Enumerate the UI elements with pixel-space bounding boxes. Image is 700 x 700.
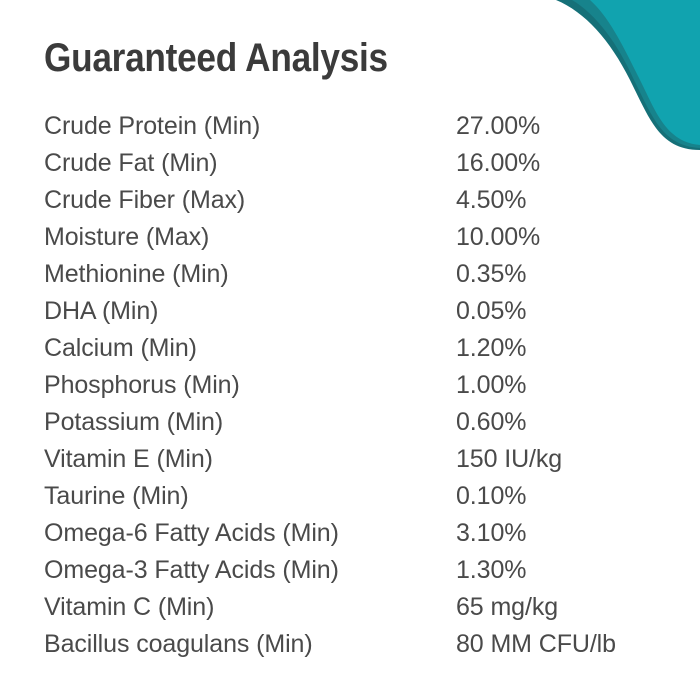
nutrient-name: Vitamin E (Min) xyxy=(44,445,456,474)
analysis-row: Bacillus coagulans (Min) 80 MM CFU/lb xyxy=(44,630,644,667)
analysis-row: Crude Fiber (Max) 4.50% xyxy=(44,186,644,223)
nutrient-value: 3.10% xyxy=(456,519,526,548)
nutrient-name: Omega-6 Fatty Acids (Min) xyxy=(44,519,456,548)
nutrient-value: 27.00% xyxy=(456,112,540,141)
nutrient-name: Omega-3 Fatty Acids (Min) xyxy=(44,556,456,585)
analysis-row: Crude Fat (Min) 16.00% xyxy=(44,149,644,186)
nutrient-name: Calcium (Min) xyxy=(44,334,456,363)
nutrient-value: 65 mg/kg xyxy=(456,593,558,622)
nutrient-value: 4.50% xyxy=(456,186,526,215)
nutrient-name: Bacillus coagulans (Min) xyxy=(44,630,456,659)
nutrient-value: 1.30% xyxy=(456,556,526,585)
nutrient-value: 0.60% xyxy=(456,408,526,437)
nutrient-name: Crude Fat (Min) xyxy=(44,149,456,178)
nutrient-value: 150 IU/kg xyxy=(456,445,562,474)
analysis-row: Phosphorus (Min) 1.00% xyxy=(44,371,644,408)
nutrient-value: 0.35% xyxy=(456,260,526,289)
analysis-row: Taurine (Min) 0.10% xyxy=(44,482,644,519)
nutrient-name: DHA (Min) xyxy=(44,297,456,326)
guaranteed-analysis-list: Crude Protein (Min) 27.00% Crude Fat (Mi… xyxy=(44,112,644,667)
nutrient-value: 16.00% xyxy=(456,149,540,178)
analysis-row: Vitamin E (Min) 150 IU/kg xyxy=(44,445,644,482)
analysis-row: Moisture (Max) 10.00% xyxy=(44,223,644,260)
nutrient-value: 80 MM CFU/lb xyxy=(456,630,616,659)
nutrient-value: 1.20% xyxy=(456,334,526,363)
nutrient-name: Taurine (Min) xyxy=(44,482,456,511)
nutrient-name: Phosphorus (Min) xyxy=(44,371,456,400)
nutrient-name: Moisture (Max) xyxy=(44,223,456,252)
analysis-row: Vitamin C (Min) 65 mg/kg xyxy=(44,593,644,630)
analysis-row: Omega-6 Fatty Acids (Min) 3.10% xyxy=(44,519,644,556)
analysis-row: Crude Protein (Min) 27.00% xyxy=(44,112,644,149)
analysis-row: Methionine (Min) 0.35% xyxy=(44,260,644,297)
nutrient-value: 0.05% xyxy=(456,297,526,326)
nutrient-name: Potassium (Min) xyxy=(44,408,456,437)
nutrient-name: Crude Protein (Min) xyxy=(44,112,456,141)
guaranteed-analysis-panel: Guaranteed Analysis Crude Protein (Min) … xyxy=(0,0,700,700)
nutrient-name: Vitamin C (Min) xyxy=(44,593,456,622)
nutrient-value: 0.10% xyxy=(456,482,526,511)
analysis-row: Calcium (Min) 1.20% xyxy=(44,334,644,371)
nutrient-value: 10.00% xyxy=(456,223,540,252)
nutrient-name: Methionine (Min) xyxy=(44,260,456,289)
nutrient-name: Crude Fiber (Max) xyxy=(44,186,456,215)
nutrient-value: 1.00% xyxy=(456,371,526,400)
analysis-row: Omega-3 Fatty Acids (Min) 1.30% xyxy=(44,556,644,593)
analysis-row: Potassium (Min) 0.60% xyxy=(44,408,644,445)
analysis-row: DHA (Min) 0.05% xyxy=(44,297,644,334)
page-title: Guaranteed Analysis xyxy=(44,36,388,81)
